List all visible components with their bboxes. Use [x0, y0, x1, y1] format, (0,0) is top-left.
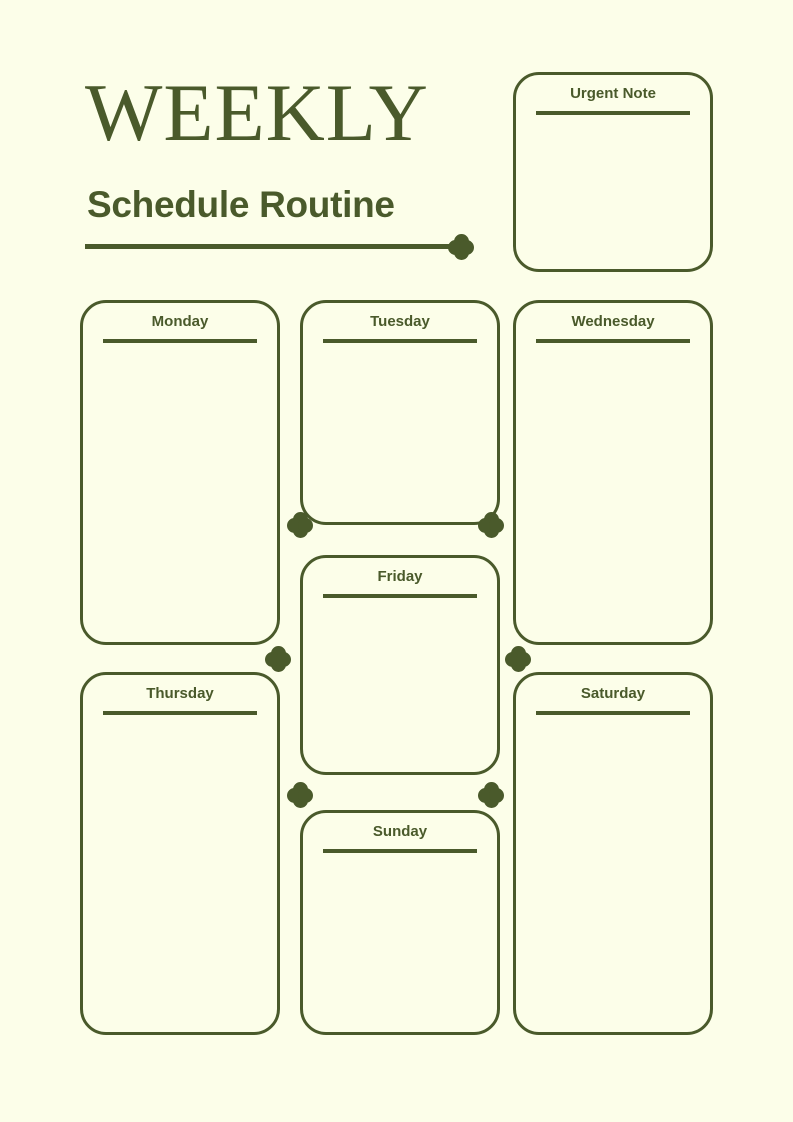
day-label: Saturday [516, 684, 710, 704]
day-card-friday[interactable]: Friday [300, 555, 500, 775]
day-body[interactable] [536, 723, 690, 1018]
day-divider [323, 594, 477, 598]
clover-icon [448, 234, 474, 260]
day-body[interactable] [323, 351, 477, 508]
clover-icon [478, 512, 504, 538]
urgent-note-divider [536, 111, 690, 115]
day-card-thursday[interactable]: Thursday [80, 672, 280, 1035]
clover-icon [287, 782, 313, 808]
clover-icon [287, 512, 313, 538]
day-card-tuesday[interactable]: Tuesday [300, 300, 500, 525]
day-divider [103, 711, 257, 715]
day-label: Wednesday [516, 312, 710, 332]
day-divider [536, 711, 690, 715]
urgent-note-label: Urgent Note [516, 84, 710, 104]
day-divider [536, 339, 690, 343]
weekly-planner-page: WEEKLY Schedule Routine Urgent Note Mond… [0, 0, 793, 1122]
page-header: WEEKLY Schedule Routine [85, 70, 485, 260]
clover-icon [478, 782, 504, 808]
clover-icon [505, 646, 531, 672]
day-divider [323, 849, 477, 853]
day-divider [323, 339, 477, 343]
clover-icon [265, 646, 291, 672]
day-label: Friday [303, 567, 497, 587]
urgent-note-body[interactable] [536, 123, 690, 255]
day-body[interactable] [536, 351, 690, 628]
day-body[interactable] [323, 606, 477, 758]
day-card-wednesday[interactable]: Wednesday [513, 300, 713, 645]
day-label: Thursday [83, 684, 277, 704]
day-card-saturday[interactable]: Saturday [513, 672, 713, 1035]
page-subtitle: Schedule Routine [87, 183, 395, 227]
page-title: WEEKLY [85, 70, 429, 156]
title-divider [85, 244, 453, 249]
day-label: Monday [83, 312, 277, 332]
day-divider [103, 339, 257, 343]
day-card-monday[interactable]: Monday [80, 300, 280, 645]
day-body[interactable] [103, 351, 257, 628]
urgent-note-card[interactable]: Urgent Note [513, 72, 713, 272]
day-body[interactable] [323, 861, 477, 1018]
day-body[interactable] [103, 723, 257, 1018]
day-card-sunday[interactable]: Sunday [300, 810, 500, 1035]
day-label: Tuesday [303, 312, 497, 332]
day-label: Sunday [303, 822, 497, 842]
